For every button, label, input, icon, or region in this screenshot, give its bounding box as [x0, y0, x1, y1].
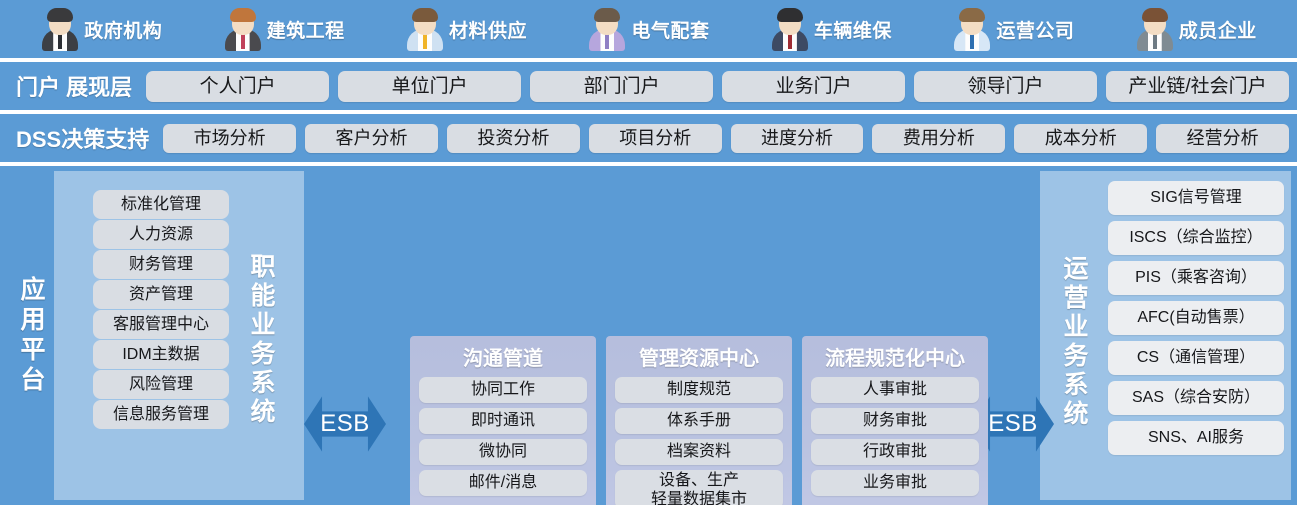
panel-management-resource-center-items: 制度规范体系手册档案资料设备、生产轻量数据集市 [615, 377, 783, 505]
avatar-icon [405, 7, 445, 51]
panel-item[interactable]: 设备、生产轻量数据集市 [615, 470, 783, 505]
panel-process-standardization-center-title: 流程规范化中心 [811, 342, 979, 371]
dss-band-title: DSS决策支持 [8, 122, 155, 154]
application-platform-band: 应用平台 标准化管理人力资源财务管理资产管理客服管理中心IDM主数据风险管理信息… [0, 166, 1297, 505]
functional-module-item[interactable]: 风险管理 [93, 370, 229, 399]
operations-module-list: SIG信号管理ISCS（综合监控）PIS（乘客咨询）AFC(自动售票）CS（通信… [1108, 181, 1284, 455]
functional-module-item[interactable]: 客服管理中心 [93, 310, 229, 339]
dss-item[interactable]: 项目分析 [589, 124, 722, 153]
portal-band: 门户 展现层 个人门户单位门户部门门户业务门户领导门户产业链/社会门户 [0, 62, 1297, 110]
stakeholder-item: 成员企业 [1135, 7, 1257, 51]
panel-item-line: 设备、生产 [615, 471, 783, 490]
avatar-icon [40, 7, 80, 51]
panel-item[interactable]: 协同工作 [419, 377, 587, 403]
operations-module-item[interactable]: AFC(自动售票） [1108, 301, 1284, 335]
avatar-icon [770, 7, 810, 51]
panel-process-standardization-center-items: 人事审批财务审批行政审批业务审批 [811, 377, 979, 496]
stakeholder-item: 建筑工程 [223, 7, 345, 51]
architecture-diagram: 政府机构建筑工程材料供应电气配套车辆维保运营公司成员企业 门户 展现层 个人门户… [0, 0, 1297, 505]
esb-arrow-left: ESB [304, 394, 386, 454]
stakeholder-item: 运营公司 [952, 7, 1074, 51]
operations-business-zone: 运营业务系统 SIG信号管理ISCS（综合监控）PIS（乘客咨询）AFC(自动售… [1040, 171, 1291, 500]
stakeholder-label: 成员企业 [1179, 16, 1257, 43]
stakeholder-label: 材料供应 [449, 16, 527, 43]
panel-item-line: 轻量数据集市 [615, 490, 783, 505]
panel-item[interactable]: 微协同 [419, 439, 587, 465]
panel-management-resource-center-title: 管理资源中心 [615, 342, 783, 371]
panel-item[interactable]: 档案资料 [615, 439, 783, 465]
avatar-icon [223, 7, 263, 51]
portal-item[interactable]: 单位门户 [338, 71, 521, 102]
dss-item[interactable]: 经营分析 [1156, 124, 1289, 153]
panel-item[interactable]: 体系手册 [615, 408, 783, 434]
stakeholder-band: 政府机构建筑工程材料供应电气配套车辆维保运营公司成员企业 [0, 0, 1297, 58]
dss-item[interactable]: 投资分析 [447, 124, 580, 153]
portal-item[interactable]: 产业链/社会门户 [1106, 71, 1289, 102]
operations-module-item[interactable]: ISCS（综合监控） [1108, 221, 1284, 255]
functional-business-system-label-text: 职能业务系统 [243, 253, 279, 427]
operations-module-item[interactable]: SAS（综合安防） [1108, 381, 1284, 415]
avatar-icon [952, 7, 992, 51]
dss-items: 市场分析客户分析投资分析项目分析进度分析费用分析成本分析经营分析 [163, 124, 1289, 153]
dss-band: DSS决策支持 市场分析客户分析投资分析项目分析进度分析费用分析成本分析经营分析 [0, 114, 1297, 162]
dss-item[interactable]: 市场分析 [163, 124, 296, 153]
operations-module-item[interactable]: CS（通信管理） [1108, 341, 1284, 375]
portal-item[interactable]: 个人门户 [146, 71, 329, 102]
avatar-icon [1135, 7, 1175, 51]
panel-item[interactable]: 即时通讯 [419, 408, 587, 434]
portal-item[interactable]: 业务门户 [722, 71, 905, 102]
dss-item[interactable]: 费用分析 [872, 124, 1005, 153]
panel-management-resource-center: 管理资源中心 制度规范体系手册档案资料设备、生产轻量数据集市 [606, 336, 792, 505]
panel-item[interactable]: 人事审批 [811, 377, 979, 403]
stakeholder-label: 电气配套 [631, 16, 709, 43]
application-platform-label-text: 应用平台 [13, 276, 49, 396]
portal-item[interactable]: 部门门户 [530, 71, 713, 102]
functional-business-zone: 标准化管理人力资源财务管理资产管理客服管理中心IDM主数据风险管理信息服务管理 … [54, 171, 304, 500]
functional-module-item[interactable]: 信息服务管理 [93, 400, 229, 429]
panel-communication: 沟通管道 协同工作即时通讯微协同邮件/消息 [410, 336, 596, 505]
application-platform-label: 应用平台 [8, 171, 54, 500]
operations-module-item[interactable]: PIS（乘客咨询） [1108, 261, 1284, 295]
esb-arrow-left-label: ESB [320, 410, 370, 438]
stakeholder-item: 车辆维保 [770, 7, 892, 51]
panel-communication-title: 沟通管道 [419, 342, 587, 371]
portal-item[interactable]: 领导门户 [914, 71, 1097, 102]
functional-module-item[interactable]: 标准化管理 [93, 190, 229, 219]
panel-item[interactable]: 财务审批 [811, 408, 979, 434]
functional-module-list: 标准化管理人力资源财务管理资产管理客服管理中心IDM主数据风险管理信息服务管理 [93, 190, 229, 429]
panel-item[interactable]: 行政审批 [811, 439, 979, 465]
esb-arrow-right-label: ESB [988, 410, 1038, 438]
panel-item[interactable]: 邮件/消息 [419, 470, 587, 496]
functional-module-item[interactable]: 资产管理 [93, 280, 229, 309]
portal-items: 个人门户单位门户部门门户业务门户领导门户产业链/社会门户 [146, 71, 1289, 102]
operations-business-system-label: 运营业务系统 [1046, 217, 1102, 467]
panel-item[interactable]: 制度规范 [615, 377, 783, 403]
stakeholder-item: 电气配套 [587, 7, 709, 51]
dss-item[interactable]: 客户分析 [305, 124, 438, 153]
panel-item[interactable]: 业务审批 [811, 470, 979, 496]
stakeholder-item: 政府机构 [40, 7, 162, 51]
functional-module-item[interactable]: 人力资源 [93, 220, 229, 249]
stakeholder-item: 材料供应 [405, 7, 527, 51]
operations-module-item[interactable]: SNS、AI服务 [1108, 421, 1284, 455]
panel-communication-items: 协同工作即时通讯微协同邮件/消息 [419, 377, 587, 496]
portal-band-title: 门户 展现层 [8, 70, 138, 102]
operations-business-system-label-text: 运营业务系统 [1056, 255, 1092, 429]
operations-module-item[interactable]: SIG信号管理 [1108, 181, 1284, 215]
dss-item[interactable]: 进度分析 [731, 124, 864, 153]
functional-module-item[interactable]: 财务管理 [93, 250, 229, 279]
stakeholder-label: 运营公司 [996, 16, 1074, 43]
stakeholder-label: 车辆维保 [814, 16, 892, 43]
stakeholder-label: 政府机构 [84, 16, 162, 43]
panel-process-standardization-center: 流程规范化中心 人事审批财务审批行政审批业务审批 [802, 336, 988, 505]
dss-item[interactable]: 成本分析 [1014, 124, 1147, 153]
functional-module-item[interactable]: IDM主数据 [93, 340, 229, 369]
functional-business-system-label: 职能业务系统 [230, 205, 292, 475]
avatar-icon [587, 7, 627, 51]
stakeholder-label: 建筑工程 [267, 16, 345, 43]
